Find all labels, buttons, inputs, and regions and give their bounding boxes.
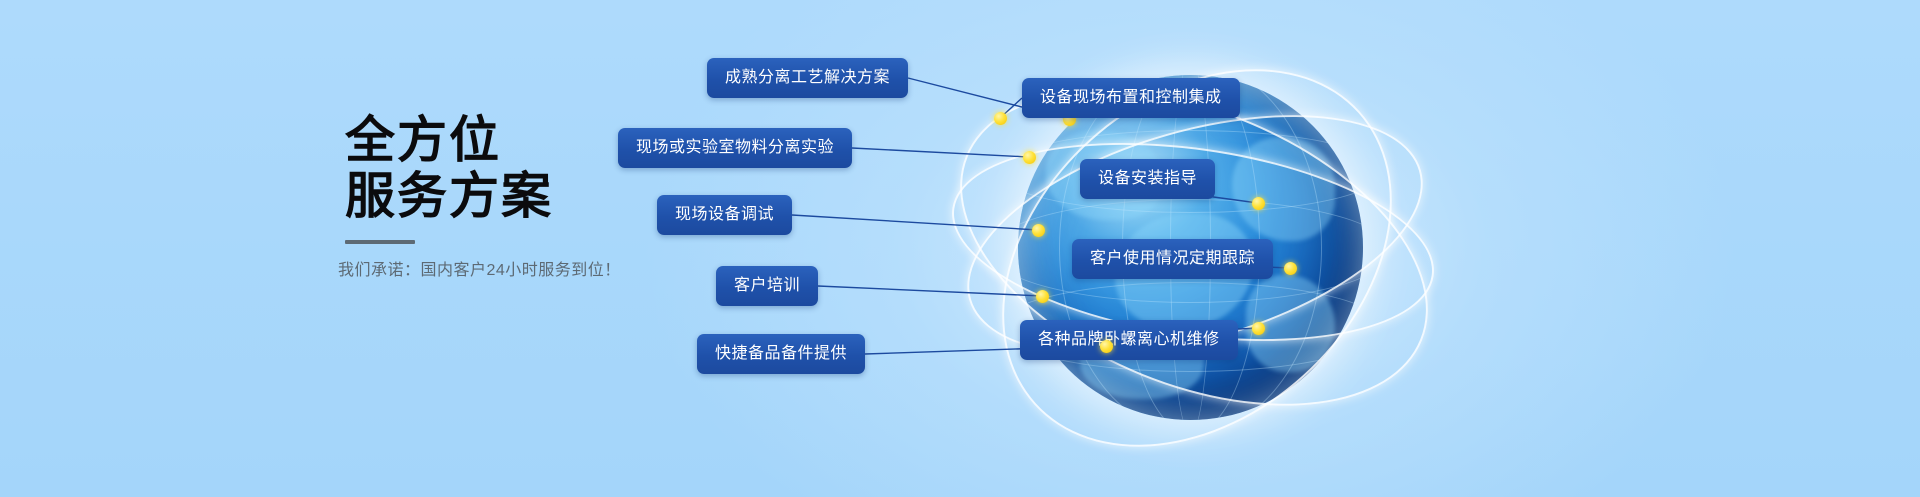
node-dot [1284, 262, 1297, 275]
node-dot [1032, 224, 1045, 237]
service-label[interactable]: 现场设备调试 [657, 195, 792, 235]
service-label[interactable]: 设备现场布置和控制集成 [1022, 78, 1240, 118]
connector-line [852, 148, 1029, 157]
service-label[interactable]: 设备安装指导 [1080, 159, 1215, 199]
node-dot [1252, 197, 1265, 210]
service-label[interactable]: 客户培训 [716, 266, 818, 306]
service-label[interactable]: 成熟分离工艺解决方案 [707, 58, 908, 98]
service-label[interactable]: 现场或实验室物料分离实验 [618, 128, 852, 168]
service-label[interactable]: 客户使用情况定期跟踪 [1072, 239, 1273, 279]
node-dot [1023, 151, 1036, 164]
connector-line [818, 286, 1042, 296]
node-dot [1252, 322, 1265, 335]
node-dot [994, 112, 1007, 125]
service-label[interactable]: 快捷备品备件提供 [697, 334, 865, 374]
connector-lines [0, 0, 1920, 497]
service-label[interactable]: 各种品牌卧螺离心机维修 [1020, 320, 1238, 360]
node-dot [1036, 290, 1049, 303]
node-dot [1100, 340, 1113, 353]
connector-line [792, 215, 1038, 230]
service-banner: 全方位 服务方案 我们承诺：国内客户24小时服务到位！ 成熟分离工艺解决方案设备… [0, 0, 1920, 497]
